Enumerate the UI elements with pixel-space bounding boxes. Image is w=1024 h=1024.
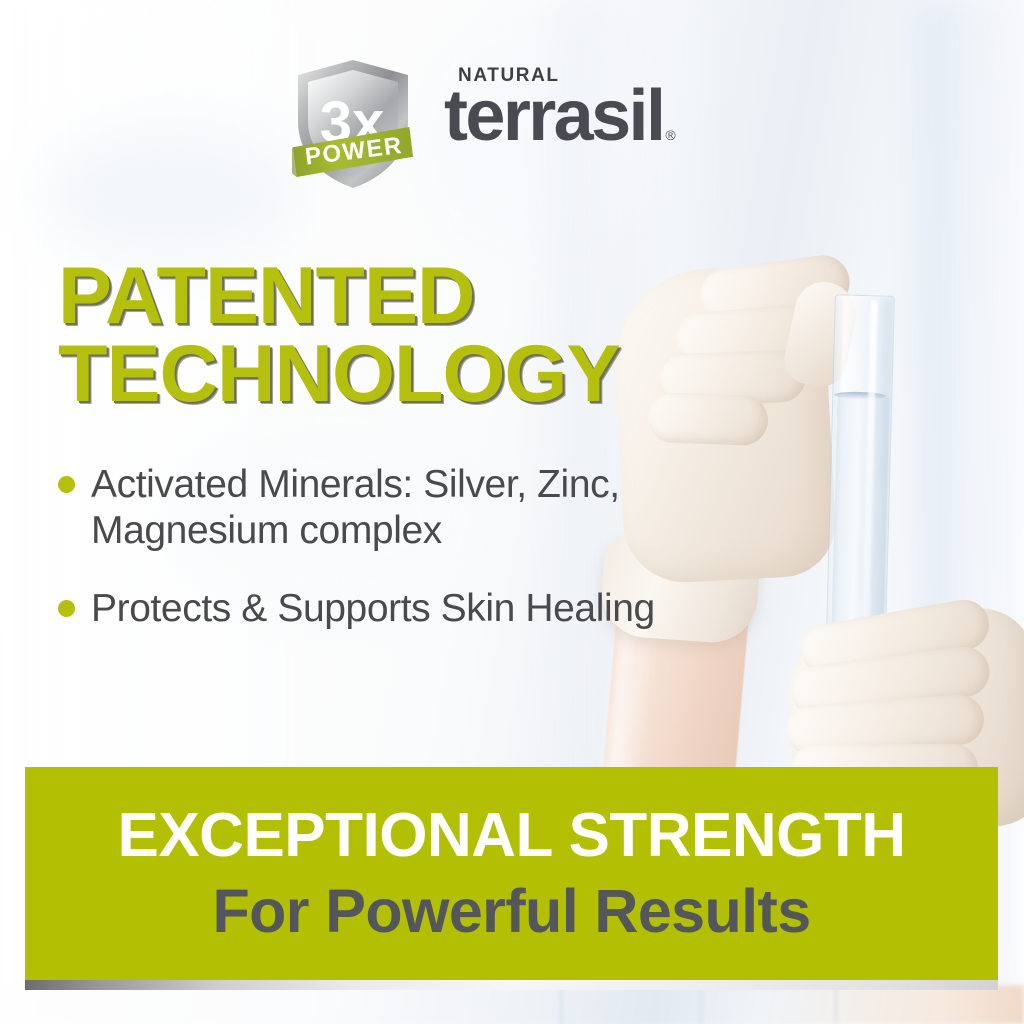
list-item: Protects & Supports Skin Healing (58, 586, 738, 632)
headline-line-1: PATENTED (58, 258, 698, 336)
feature-text: Activated Minerals: Silver, Zinc, Magnes… (91, 462, 738, 554)
shield-icon: 3x POWER (292, 58, 414, 190)
banner-headline: EXCEPTIONAL STRENGTH (117, 805, 905, 867)
page-title: PATENTED TECHNOLOGY (58, 258, 698, 414)
bullet-dot-icon (58, 476, 75, 493)
brand-logo: 3x POWER NATURAL terrasil ® (292, 58, 742, 190)
list-item: Activated Minerals: Silver, Zinc, Magnes… (58, 462, 738, 554)
feature-text: Protects & Supports Skin Healing (91, 586, 655, 632)
brand-name: terrasil (444, 83, 663, 149)
brand-wordmark: NATURAL terrasil ® (444, 66, 744, 149)
footer-banner: EXCEPTIONAL STRENGTH For Powerful Result… (25, 767, 998, 980)
background-blur-shape (40, 120, 300, 270)
product-marketing-image: 3x POWER NATURAL terrasil ® PATENTED TEC… (0, 0, 1024, 1024)
fabric-fold (700, 988, 702, 1024)
lab-coat-fabric (0, 985, 1024, 1024)
3x-power-shield-badge: 3x POWER (292, 58, 414, 190)
fabric-fold (835, 988, 837, 1024)
banner-subheadline: For Powerful Results (212, 881, 810, 942)
feature-list: Activated Minerals: Silver, Zinc, Magnes… (58, 462, 738, 664)
headline-line-2: TECHNOLOGY (58, 336, 698, 414)
registered-trademark-icon: ® (665, 127, 675, 143)
bullet-dot-icon (58, 600, 75, 617)
fabric-fold (560, 988, 562, 1024)
banner-shadow-strip (25, 980, 998, 990)
